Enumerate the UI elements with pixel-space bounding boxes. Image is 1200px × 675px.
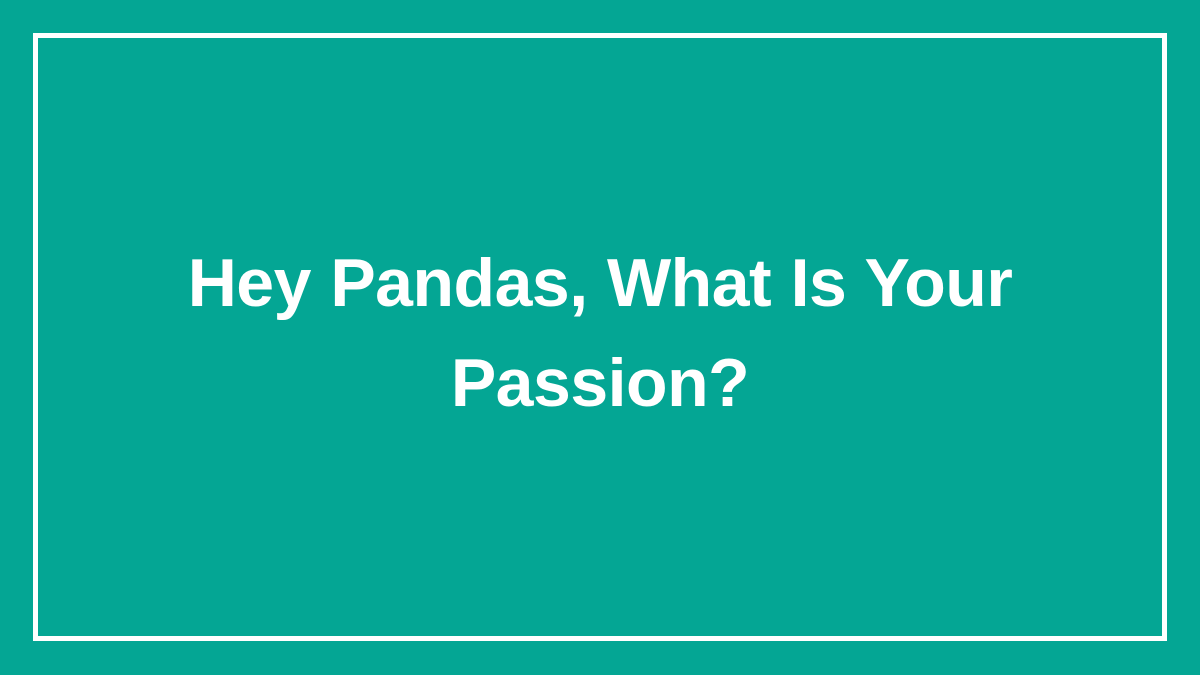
poster-canvas: Hey Pandas, What Is Your Passion? [0,0,1200,675]
poster-border-frame: Hey Pandas, What Is Your Passion? [33,33,1167,641]
page-title: Hey Pandas, What Is Your Passion? [150,233,1050,433]
headline-block: Hey Pandas, What Is Your Passion? [150,233,1050,433]
